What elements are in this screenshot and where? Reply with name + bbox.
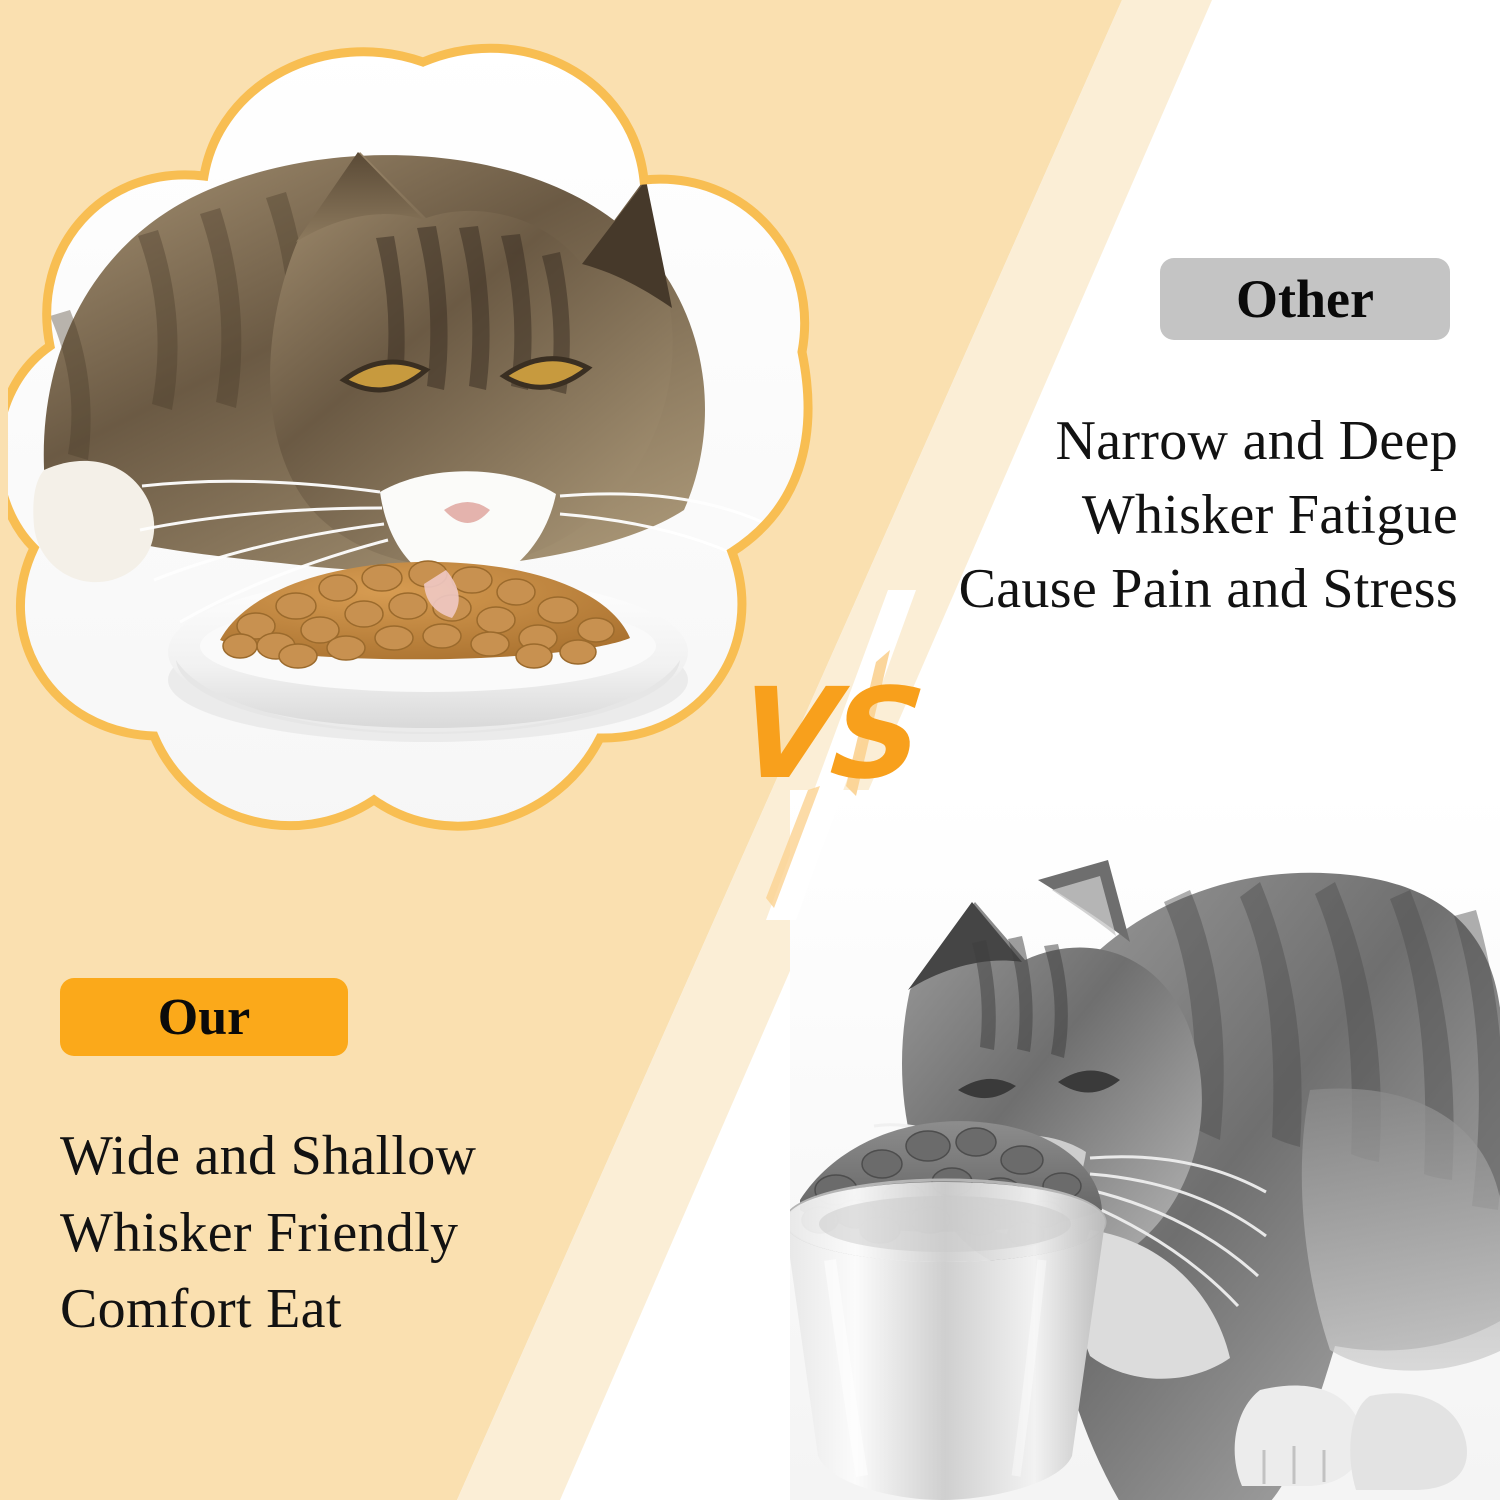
- drawback-item: Cause Pain and Stress: [930, 553, 1458, 627]
- badge-our: Our: [60, 978, 348, 1056]
- benefit-item: Wide and Shallow: [60, 1118, 700, 1195]
- other-drawbacks-list: Narrow and Deep Whisker Fatigue Cause Pa…: [930, 405, 1458, 627]
- our-bowl-photo: [8, 40, 838, 870]
- drawback-item: Whisker Fatigue: [930, 479, 1458, 553]
- vs-label: VS: [733, 672, 925, 797]
- drawback-item: Narrow and Deep: [930, 405, 1458, 479]
- comparison-graphic: VS Other Our Narrow and Deep Whisker Fat…: [0, 0, 1500, 1500]
- our-benefits-list: Wide and Shallow Whisker Friendly Comfor…: [60, 1118, 700, 1348]
- other-bowl-photo: [790, 790, 1500, 1500]
- badge-other-label: Other: [1236, 268, 1374, 330]
- benefit-item: Comfort Eat: [60, 1271, 700, 1348]
- badge-other: Other: [1160, 258, 1450, 340]
- badge-our-label: Our: [158, 988, 250, 1047]
- benefit-item: Whisker Friendly: [60, 1195, 700, 1272]
